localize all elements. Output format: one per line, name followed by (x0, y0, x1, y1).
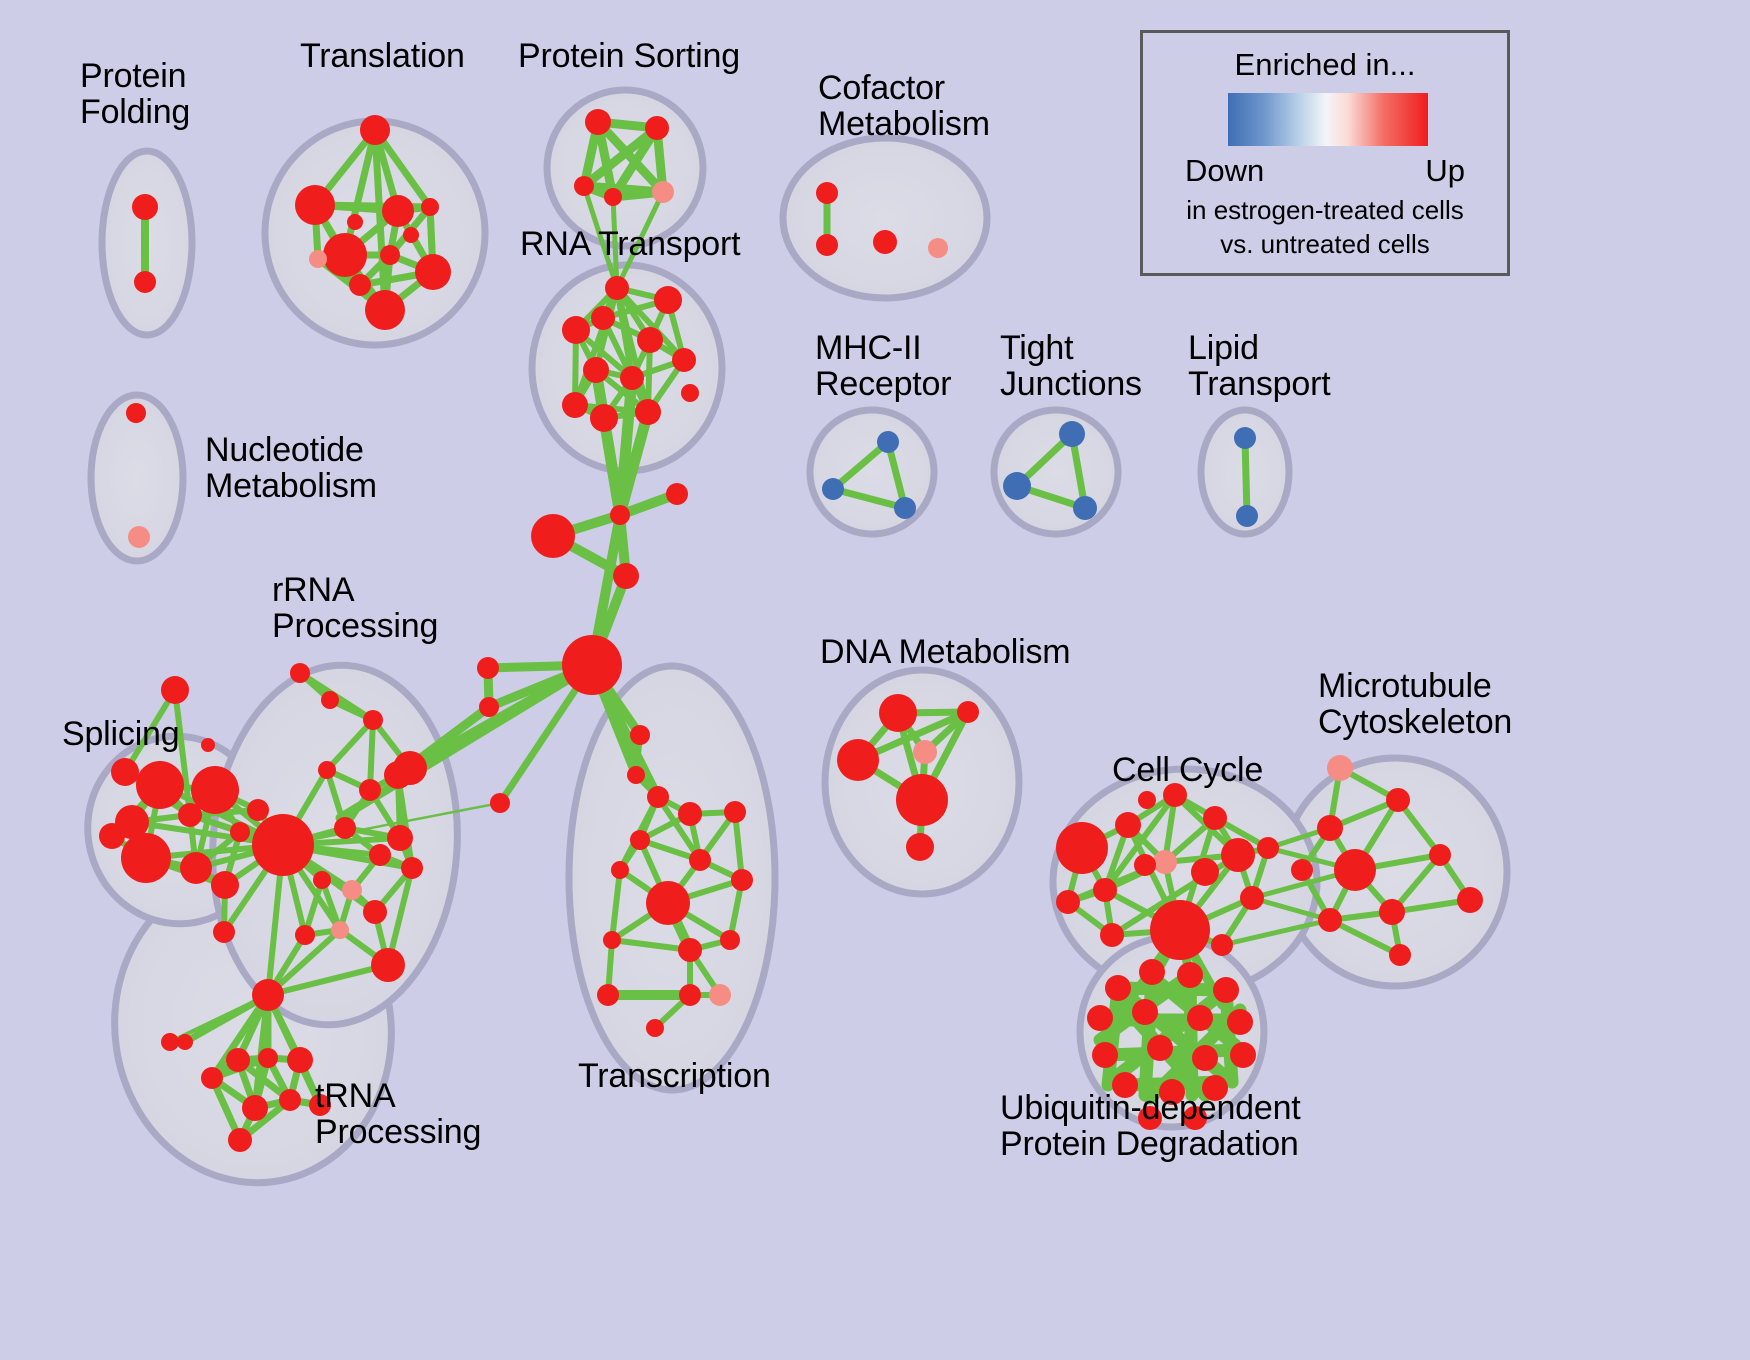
cluster-label-ubiquitin-degradation: Ubiquitin-dependent Protein Degradation (1000, 1090, 1301, 1162)
cluster-label-transcription: Transcription (578, 1058, 771, 1094)
legend-title: Enriched in... (1143, 47, 1507, 83)
cluster-hull-tight-junctions (994, 410, 1118, 534)
legend-color-gradient-bar (1228, 93, 1428, 146)
legend-caption-line-1: in estrogen-treated cells (1143, 195, 1507, 226)
enrichment-map-figure: Protein FoldingTranslationProtein Sortin… (0, 0, 1750, 1360)
cluster-label-rna-transport: RNA Transport (520, 226, 740, 262)
legend-panel: Enriched in... Down Up in estrogen-treat… (1140, 30, 1510, 276)
cluster-label-mhc-ii-receptor: MHC-II Receptor (815, 330, 951, 402)
cluster-label-trna-processing: tRNA Processing (315, 1078, 481, 1150)
cluster-label-splicing: Splicing (62, 716, 179, 752)
cluster-label-protein-sorting: Protein Sorting (518, 38, 740, 74)
cluster-label-protein-folding: Protein Folding (80, 58, 190, 130)
cluster-label-translation: Translation (300, 38, 465, 74)
cluster-label-lipid-transport: Lipid Transport (1188, 330, 1330, 402)
cluster-label-dna-metabolism: DNA Metabolism (820, 634, 1070, 670)
cluster-label-rrna-processing: rRNA Processing (272, 572, 438, 644)
cluster-hull-cofactor-metabolism (783, 138, 987, 298)
cluster-label-cell-cycle: Cell Cycle (1112, 752, 1263, 788)
cluster-hull-mhc-ii-receptor (810, 410, 934, 534)
legend-high-label: Up (1425, 153, 1465, 189)
legend-caption-line-2: vs. untreated cells (1143, 229, 1507, 260)
cluster-label-tight-junctions: Tight Junctions (1000, 330, 1142, 402)
cluster-label-cofactor-metabolism: Cofactor Metabolism (818, 70, 990, 142)
cluster-label-nucleotide-metabolism: Nucleotide Metabolism (205, 432, 377, 504)
cluster-label-microtubule-cytoskeleton: Microtubule Cytoskeleton (1318, 668, 1512, 740)
legend-low-label: Down (1185, 153, 1264, 189)
cluster-hull-protein-sorting (547, 90, 703, 246)
